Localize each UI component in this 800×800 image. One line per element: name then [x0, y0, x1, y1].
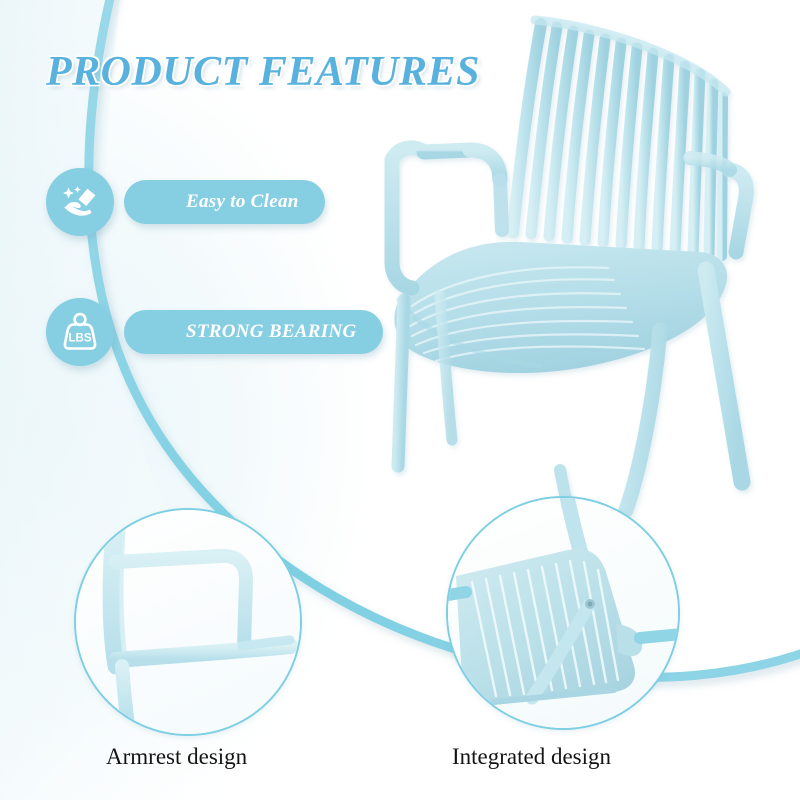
integrated-underside-closeup-image	[448, 498, 678, 728]
weight-icon-text: LBS	[69, 333, 92, 345]
feature-icon-badge-strong-bearing: LBS	[46, 298, 114, 366]
feature-pill-easy-to-clean: Easy to Clean	[124, 180, 325, 224]
feature-easy-to-clean[interactable]: Easy to Clean	[46, 168, 114, 236]
weight-lbs-icon: LBS	[60, 311, 100, 353]
hand-wiping-sparkle-icon	[60, 182, 100, 222]
armrest-closeup-image	[76, 510, 300, 734]
detail-caption-integrated: Integrated design	[452, 744, 611, 770]
feature-icon-badge-easy-to-clean	[46, 168, 114, 236]
product-features-infographic: PRODUCT FEATURES Easy to Clean STRONG BE…	[0, 0, 800, 800]
detail-caption-armrest: Armrest design	[106, 744, 247, 770]
feature-label-strong-bearing: STRONG BEARING	[124, 321, 383, 343]
feature-strong-bearing[interactable]: STRONG BEARING LBS	[46, 298, 114, 366]
detail-inset-integrated	[446, 496, 680, 730]
page-title: PRODUCT FEATURES	[46, 48, 480, 96]
detail-inset-armrest	[74, 508, 302, 736]
feature-pill-strong-bearing: STRONG BEARING	[124, 310, 383, 354]
feature-label-easy-to-clean: Easy to Clean	[124, 191, 325, 213]
